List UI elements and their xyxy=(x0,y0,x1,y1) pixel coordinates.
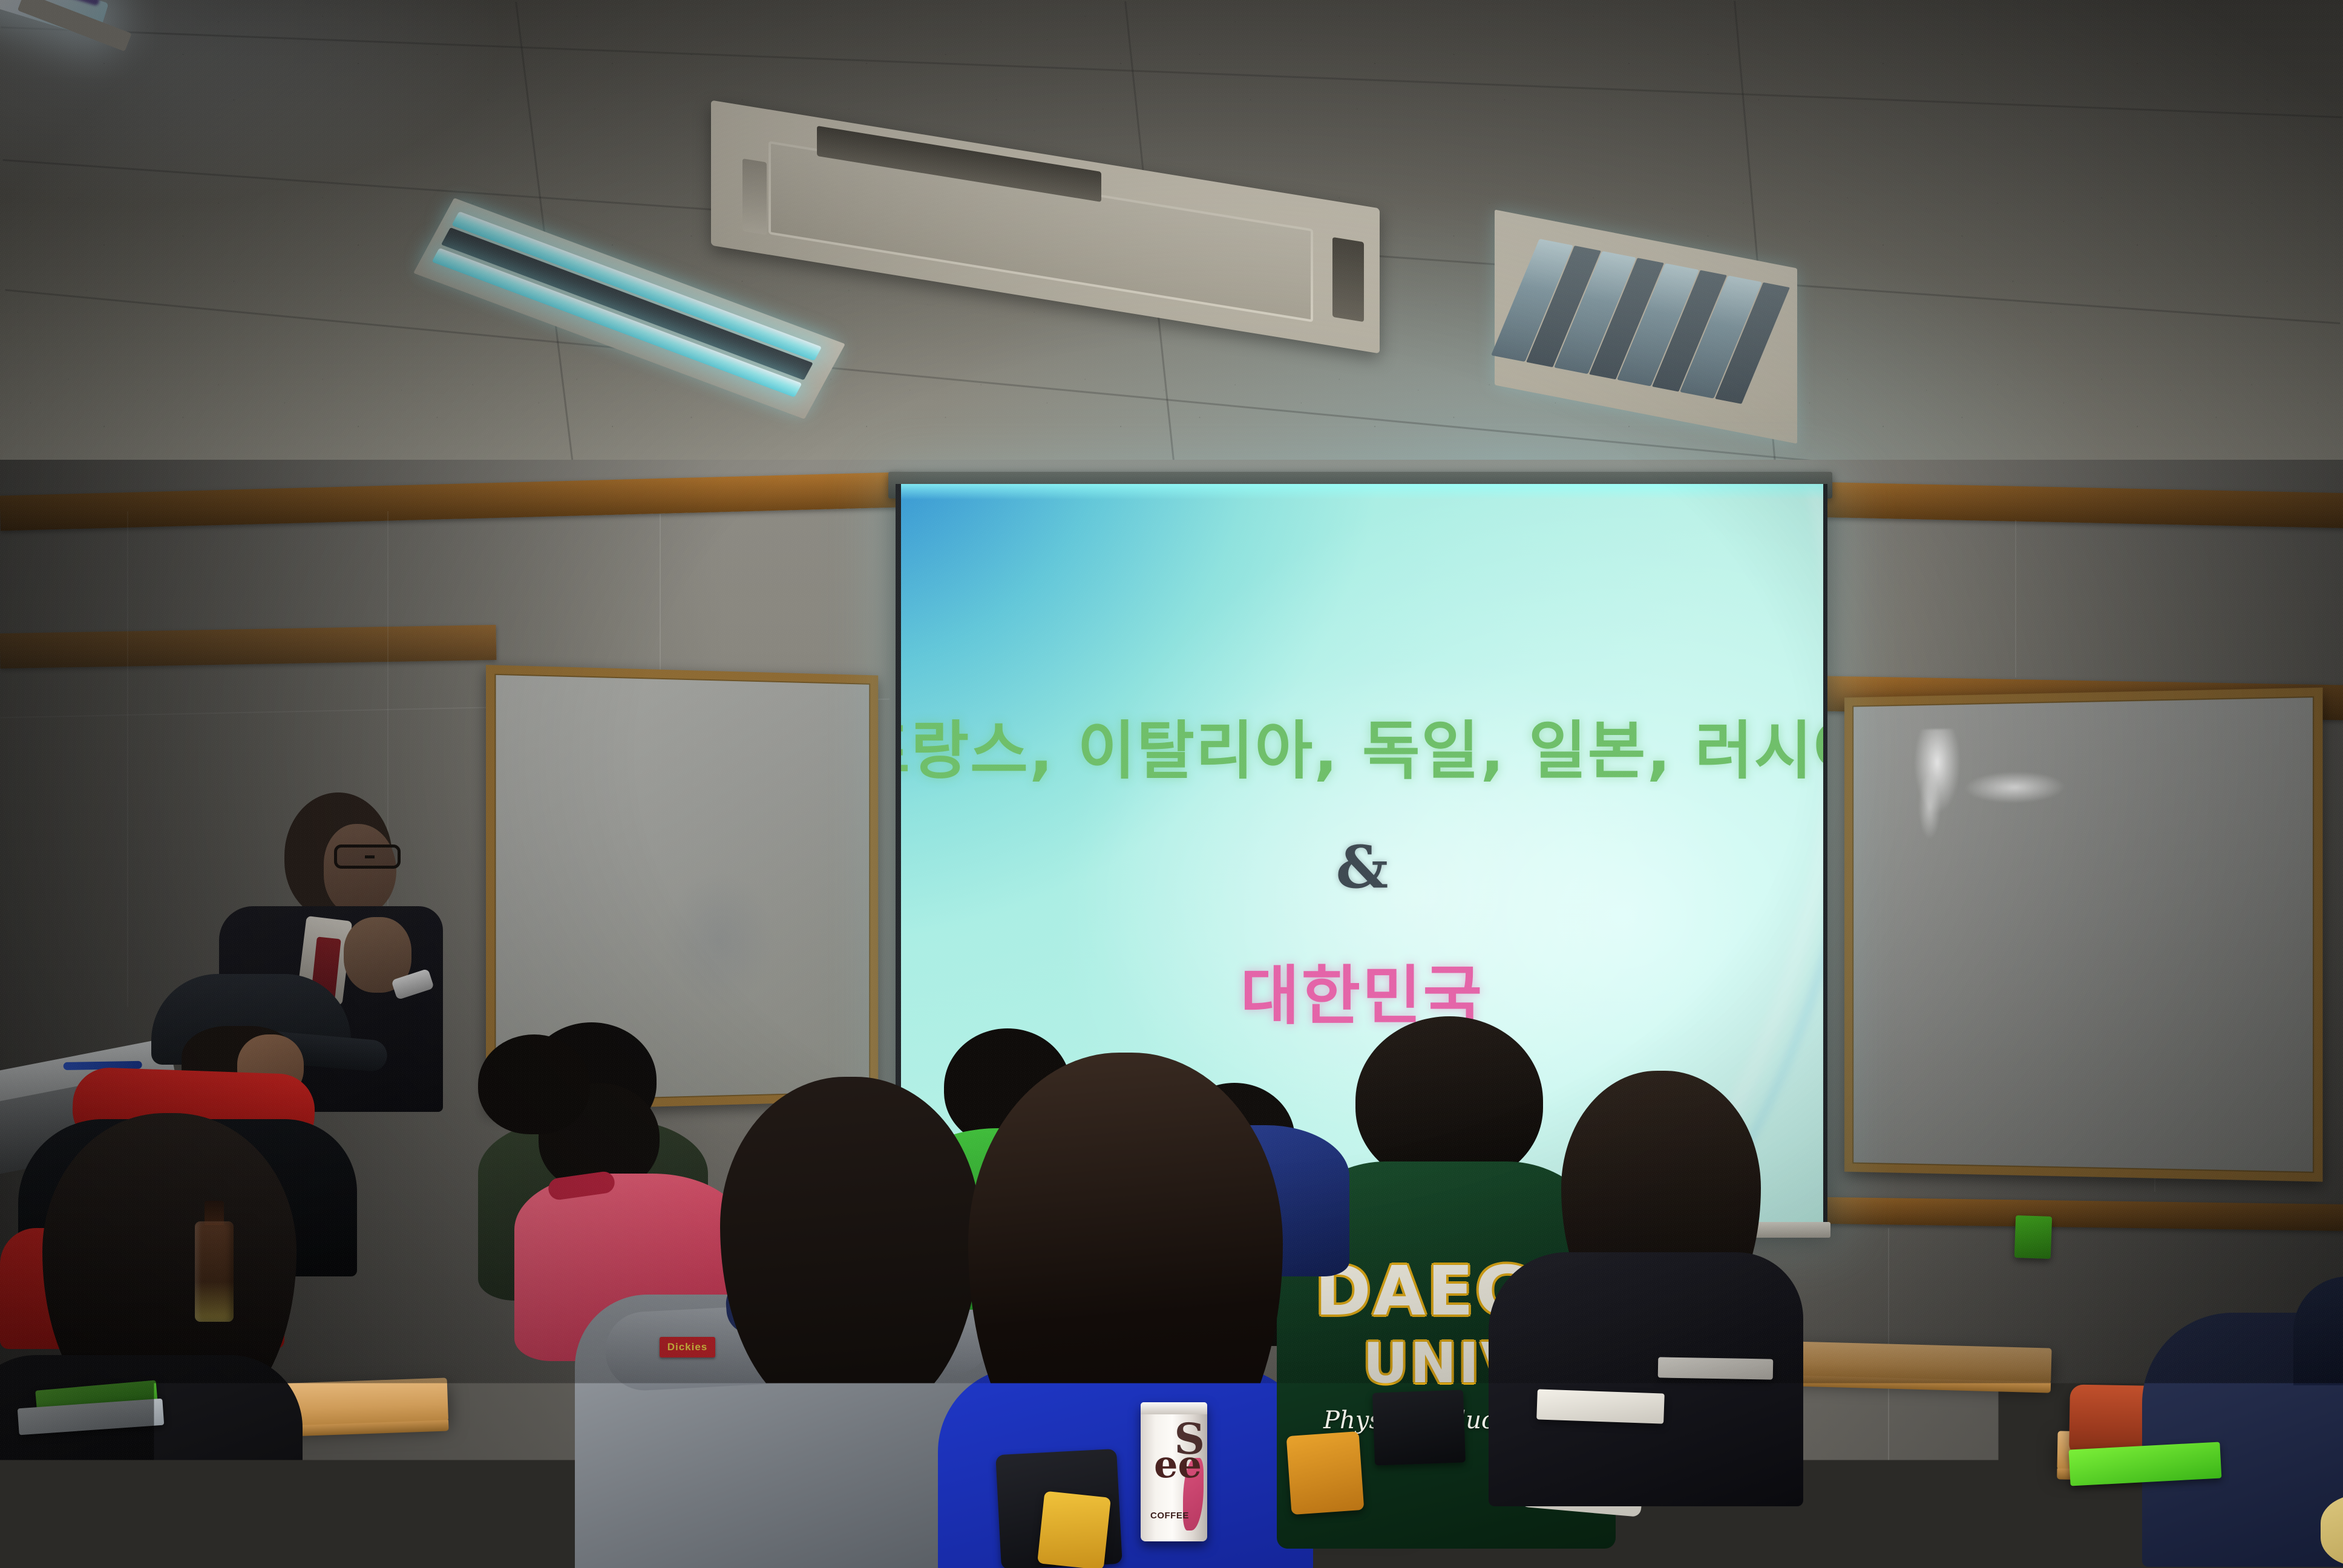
hood xyxy=(2293,1276,2343,1385)
eyeglasses-icon xyxy=(334,844,401,869)
student-black-coat xyxy=(1489,1071,1803,1506)
slide-countries-line: 프랑스, 이탈리아, 독일, 일본, 러시아 xyxy=(896,699,1827,791)
paper-on-desk xyxy=(1658,1357,1774,1379)
paper-stack xyxy=(1536,1389,1665,1423)
slide-ampersand: & xyxy=(1336,833,1389,901)
whiteboard-right xyxy=(1844,687,2322,1181)
classroom-photo: 프랑스, 이탈리아, 독일, 일본, 러시아 & 대한민국 xyxy=(0,0,2343,1568)
yellow-tag xyxy=(1037,1491,1111,1568)
cup-brand: COFFEE xyxy=(1150,1511,1189,1521)
student-navy-right xyxy=(2142,1276,2343,1568)
dark-object xyxy=(1372,1390,1466,1465)
brand-tag: Dickies xyxy=(660,1337,715,1357)
orange-pouch xyxy=(1286,1431,1365,1515)
student-back-small xyxy=(460,1034,611,1192)
green-card xyxy=(2014,1215,2052,1259)
glass-bottle xyxy=(195,1201,234,1322)
